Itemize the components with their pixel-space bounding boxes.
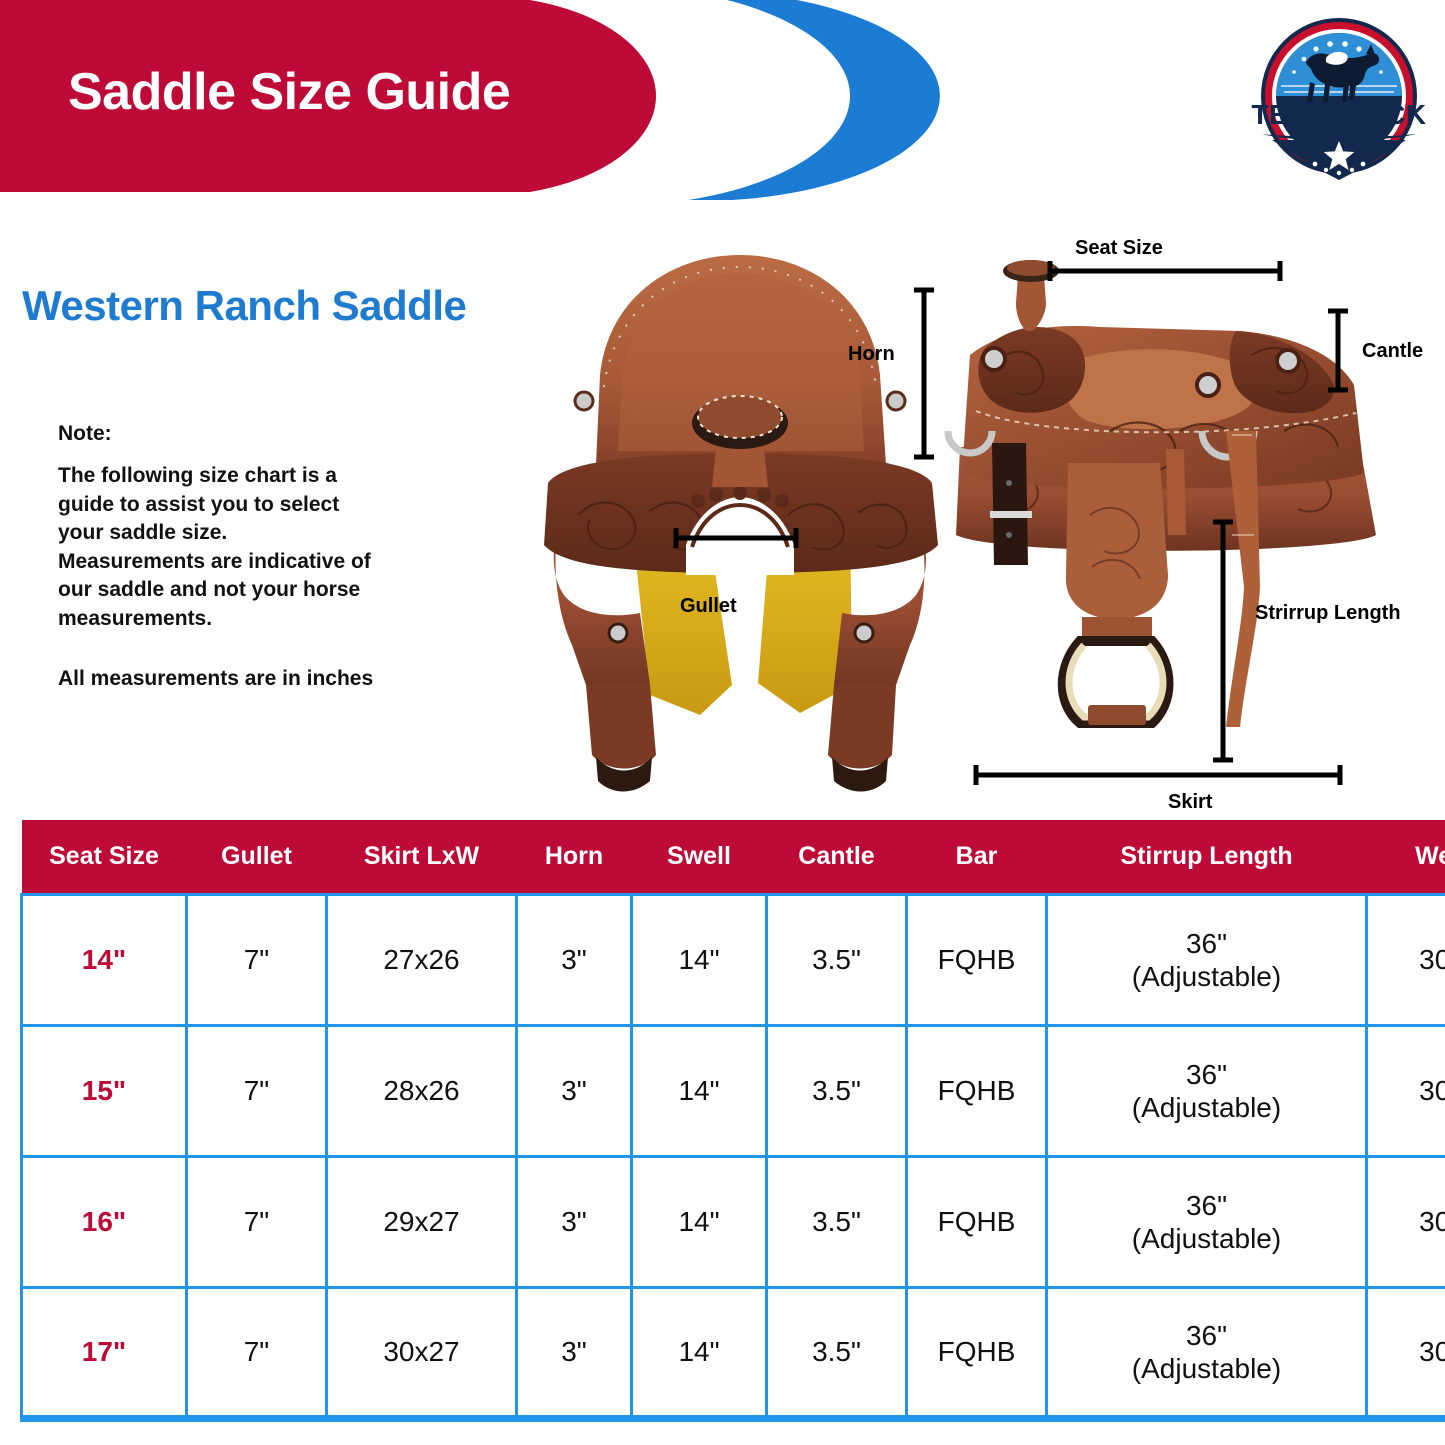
cell-skirt: 28x26 <box>327 1026 517 1157</box>
label-skirt: Skirt <box>1168 791 1212 814</box>
cell-bar: FQHB <box>907 1026 1047 1157</box>
note-units: All measurements are in inches <box>58 667 458 691</box>
cell-gullet: 7" <box>187 1288 327 1419</box>
cell-gullet: 7" <box>187 1157 327 1288</box>
cell-cantle: 3.5" <box>767 1157 907 1288</box>
label-stirrup-length: Strirrup Length <box>1255 602 1401 625</box>
cell-horn: 3" <box>517 1026 632 1157</box>
cell-skirt: 30x27 <box>327 1288 517 1419</box>
stirrup-value: 36" <box>1050 927 1363 960</box>
col-header-swell: Swell <box>632 820 767 895</box>
cell-horn: 3" <box>517 1157 632 1288</box>
cell-horn: 3" <box>517 1288 632 1419</box>
cell-swell: 14" <box>632 1026 767 1157</box>
cell-gullet: 7" <box>187 1026 327 1157</box>
note-body: The following size chart is a guide to a… <box>58 462 458 633</box>
stirrup-note: (Adjustable) <box>1050 960 1363 993</box>
col-header-cantle: Cantle <box>767 820 907 895</box>
saddle-front-view <box>544 255 938 792</box>
page-title: Saddle Size Guide <box>68 62 510 122</box>
cell-cantle: 3.5" <box>767 895 907 1026</box>
col-header-stirrup-length: Stirrup Length <box>1047 820 1367 895</box>
brand-logo: TEXANTACK <box>1248 14 1430 186</box>
cell-weight: 30 lbs <box>1367 1157 1445 1288</box>
label-gullet: Gullet <box>680 595 737 618</box>
stirrup-note: (Adjustable) <box>1050 1091 1363 1124</box>
stirrup-note: (Adjustable) <box>1050 1222 1363 1255</box>
col-header-seat-size: Seat Size <box>22 820 187 895</box>
stirrup-value: 36" <box>1050 1189 1363 1222</box>
cell-horn: 3" <box>517 895 632 1026</box>
cell-swell: 14" <box>632 895 767 1026</box>
cell-weight: 30 lbs <box>1367 895 1445 1026</box>
logo-brand-text: TEXANTACK <box>1251 99 1426 130</box>
cell-swell: 14" <box>632 1288 767 1419</box>
cell-stirrup-length: 36" (Adjustable) <box>1047 1026 1367 1157</box>
cell-cantle: 3.5" <box>767 1288 907 1419</box>
table-row: 17" 7" 30x27 3" 14" 3.5" FQHB 36" (Adjus… <box>22 1288 1445 1419</box>
col-header-weight: Weight <box>1367 820 1445 895</box>
cell-stirrup-length: 36" (Adjustable) <box>1047 895 1367 1026</box>
cell-cantle: 3.5" <box>767 1026 907 1157</box>
label-horn: Horn <box>848 343 895 366</box>
saddle-illustrations: Horn Gullet Seat Size Cantle Strirrup Le… <box>500 215 1445 820</box>
cell-bar: FQHB <box>907 895 1047 1026</box>
saddle-side-view <box>948 260 1376 727</box>
table-row: 15" 7" 28x26 3" 14" 3.5" FQHB 36" (Adjus… <box>22 1026 1445 1157</box>
table-row: 14" 7" 27x26 3" 14" 3.5" FQHB 36" (Adjus… <box>22 895 1445 1026</box>
cell-seat-size: 15" <box>22 1026 187 1157</box>
label-cantle: Cantle <box>1362 340 1423 363</box>
table-row: 16" 7" 29x27 3" 14" 3.5" FQHB 36" (Adjus… <box>22 1157 1445 1288</box>
cell-bar: FQHB <box>907 1288 1047 1419</box>
cell-gullet: 7" <box>187 895 327 1026</box>
stirrup-note: (Adjustable) <box>1050 1352 1363 1385</box>
size-chart-table: Seat Size Gullet Skirt LxW Horn Swell Ca… <box>20 820 1445 1422</box>
stirrup-value: 36" <box>1050 1319 1363 1352</box>
table-header-row: Seat Size Gullet Skirt LxW Horn Swell Ca… <box>22 820 1445 895</box>
cell-weight: 30 lbs <box>1367 1026 1445 1157</box>
col-header-skirt: Skirt LxW <box>327 820 517 895</box>
cell-seat-size: 17" <box>22 1288 187 1419</box>
cell-skirt: 29x27 <box>327 1157 517 1288</box>
label-seat-size: Seat Size <box>1075 237 1163 260</box>
col-header-gullet: Gullet <box>187 820 327 895</box>
page-header: Saddle Size Guide <box>0 0 1445 200</box>
cell-bar: FQHB <box>907 1157 1047 1288</box>
cell-swell: 14" <box>632 1157 767 1288</box>
cell-skirt: 27x26 <box>327 895 517 1026</box>
cell-stirrup-length: 36" (Adjustable) <box>1047 1157 1367 1288</box>
product-title: Western Ranch Saddle <box>22 282 466 330</box>
cell-seat-size: 16" <box>22 1157 187 1288</box>
cell-stirrup-length: 36" (Adjustable) <box>1047 1288 1367 1419</box>
cell-seat-size: 14" <box>22 895 187 1026</box>
note-block: Note: The following size chart is a guid… <box>58 422 458 691</box>
col-header-horn: Horn <box>517 820 632 895</box>
col-header-bar: Bar <box>907 820 1047 895</box>
note-label: Note: <box>58 422 458 446</box>
saddle-diagram-svg <box>500 215 1445 815</box>
stirrup-value: 36" <box>1050 1058 1363 1091</box>
cell-weight: 30 lbs <box>1367 1288 1445 1419</box>
